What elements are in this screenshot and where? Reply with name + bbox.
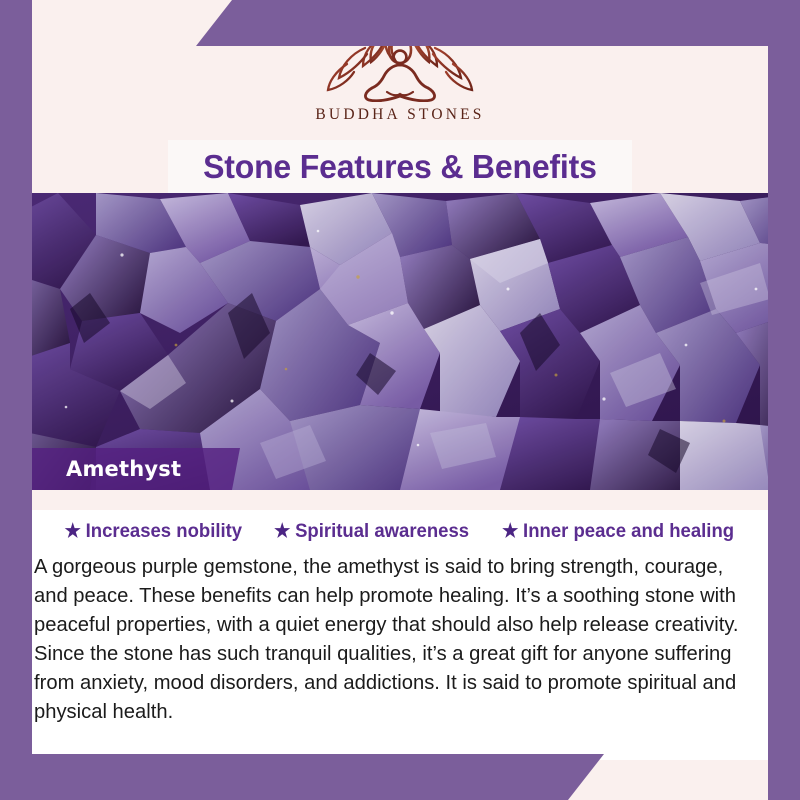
star-icon: ★ — [502, 522, 518, 541]
header-band: BUDDHA STONES Stone Features & Benefits — [0, 0, 800, 193]
benefit-item-1: ★ Spiritual awareness — [274, 520, 469, 543]
infographic-page: BUDDHA STONES Stone Features & Benefits — [0, 0, 800, 800]
benefit-item-2: ★ Inner peace and healing — [502, 520, 734, 543]
stone-description: A gorgeous purple gemstone, the amethyst… — [34, 552, 755, 726]
brand-logo: BUDDHA STONES — [0, 16, 800, 124]
content-area: ★ Increases nobility ★ Spiritual awarene… — [0, 510, 800, 760]
star-icon: ★ — [274, 522, 290, 541]
brand-name: BUDDHA STONES — [315, 106, 484, 124]
benefits-list: ★ Increases nobility ★ Spiritual awarene… — [0, 510, 800, 543]
lotus-meditation-icon — [325, 16, 475, 102]
star-icon: ★ — [65, 522, 81, 541]
benefit-label: Spiritual awareness — [295, 520, 469, 543]
stone-name-banner: Amethyst — [0, 448, 240, 490]
benefit-label: Inner peace and healing — [523, 520, 734, 543]
photo-divider — [0, 490, 800, 510]
stone-name-label: Amethyst — [66, 448, 181, 490]
title-strip: Stone Features & Benefits — [168, 140, 632, 194]
amethyst-crystal-photo — [0, 193, 800, 490]
page-title: Stone Features & Benefits — [203, 148, 597, 186]
benefit-item-0: ★ Increases nobility — [65, 520, 242, 543]
benefit-label: Increases nobility — [86, 520, 242, 543]
crystal-illustration — [0, 193, 800, 490]
